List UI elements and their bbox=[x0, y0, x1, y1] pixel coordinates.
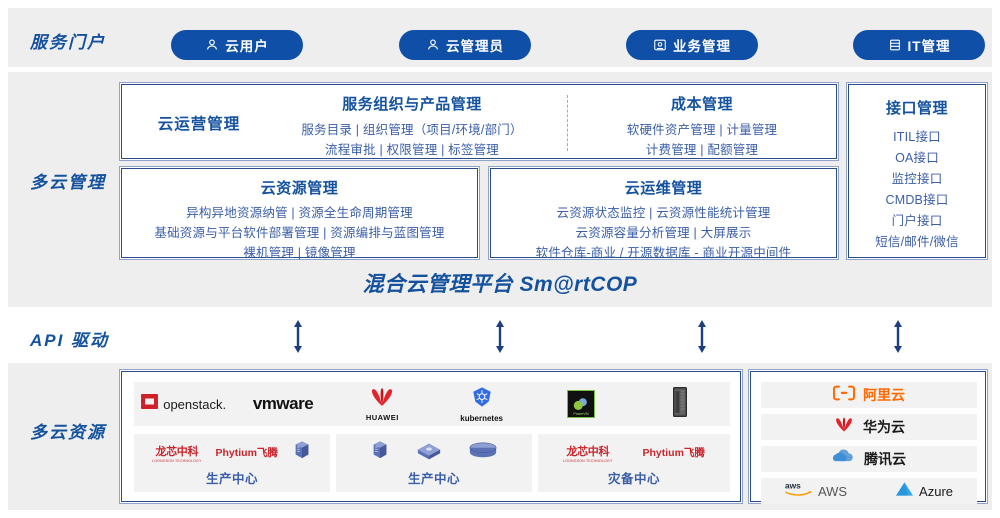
virtualization-vendor-strip: openstack. vmware bbox=[134, 382, 730, 426]
datacenter-name: 灾备中心 bbox=[608, 468, 660, 487]
datacenter-name: 生产中心 bbox=[408, 468, 460, 487]
bidirectional-arrow-icon bbox=[695, 318, 709, 360]
service-portal-band: 服务门户 云用户 云管理员 业务管理 IT管理 bbox=[8, 8, 992, 67]
vendor-powervm: PowerVM bbox=[531, 382, 630, 426]
public-cloud-label: AWS bbox=[818, 484, 847, 499]
detail-line: 软硬件资产管理 | 计量管理 bbox=[577, 120, 827, 140]
portal-pill-label: 云管理员 bbox=[446, 35, 504, 55]
bidirectional-arrow-icon bbox=[493, 318, 507, 360]
vendor-label: kubernetes bbox=[460, 414, 503, 423]
public-cloud-row-aws-azure: aws AWS Azure bbox=[761, 478, 977, 504]
user-icon bbox=[426, 38, 440, 52]
multi-cloud-resource-band: 多云资源 openstack. bbox=[8, 363, 992, 510]
vendor-label: HUAWEI bbox=[366, 413, 399, 422]
row-label-api-driven: API 驱动 bbox=[30, 326, 109, 351]
cloud-ops-management-lines: 云资源状态监控 | 云资源性能统计管理 云资源容量分析管理 | 大屏展示 软件仓… bbox=[491, 203, 836, 263]
public-cloud-row-huawei: 华为云 bbox=[761, 414, 977, 440]
portal-pill-label: IT管理 bbox=[908, 35, 951, 55]
cost-management-column: 成本管理 软硬件资产管理 | 计量管理 计费管理 | 配额管理 bbox=[577, 93, 827, 160]
vendor-kubernetes: kubernetes bbox=[432, 382, 531, 426]
service-org-product-lines: 服务目录 | 组织管理（项目/环境/部门） 流程审批 | 权限管理 | 标签管理 bbox=[262, 120, 562, 160]
column-divider bbox=[567, 95, 568, 151]
public-cloud-label: Azure bbox=[919, 484, 953, 499]
interface-management-box: 接口管理 ITIL接口 OA接口 监控接口 CMDB接口 门户接口 短信/邮件/… bbox=[848, 84, 986, 258]
cost-management-title: 成本管理 bbox=[577, 93, 827, 114]
portal-pill-cloud-user[interactable]: 云用户 bbox=[171, 30, 303, 60]
interface-management-lines: ITIL接口 OA接口 监控接口 CMDB接口 门户接口 短信/邮件/微信 bbox=[849, 127, 985, 253]
detail-line: 计费管理 | 配额管理 bbox=[577, 140, 827, 160]
user-icon bbox=[205, 38, 219, 52]
api-driven-band: API 驱动 bbox=[8, 312, 992, 360]
public-cloud-resources-box: 阿里云 华为云 腾 bbox=[750, 371, 986, 502]
cloud-operation-management-box: 云运营管理 服务组织与产品管理 服务目录 | 组织管理（项目/环境/部门） 流程… bbox=[121, 84, 837, 159]
detail-line: 异构异地资源纳管 | 资源全生命周期管理 bbox=[122, 203, 477, 223]
phytium-logo: Phytium飞腾 bbox=[216, 445, 278, 460]
row-label-multi-cloud-resource: 多云资源 bbox=[30, 418, 106, 443]
cost-management-lines: 软硬件资产管理 | 计量管理 计费管理 | 配额管理 bbox=[577, 120, 827, 160]
openstack-icon bbox=[141, 394, 158, 414]
portal-pill-cloud-admin[interactable]: 云管理员 bbox=[399, 30, 531, 60]
azure-logo: Azure bbox=[895, 481, 953, 502]
server-icon bbox=[292, 439, 312, 466]
vendor-label: 龙芯中科 bbox=[566, 443, 609, 459]
monitor-icon bbox=[653, 38, 667, 52]
vendor-server-rack bbox=[631, 382, 730, 426]
cloud-resource-management-box: 云资源管理 异构异地资源纳管 | 资源全生命周期管理 基础资源与平台软件部署管理… bbox=[121, 168, 478, 258]
vendor-sublabel: LOONGSON TECHNOLOGY bbox=[152, 459, 201, 463]
alibaba-cloud-icon bbox=[833, 385, 855, 406]
datacenter-cell: 龙芯中科 LOONGSON TECHNOLOGY Phytium飞腾 生产中心 bbox=[134, 434, 330, 492]
multi-cloud-management-band: 多云管理 云运营管理 服务组织与产品管理 服务目录 | 组织管理（项目/环境/部… bbox=[8, 72, 992, 307]
row-label-multi-cloud-management: 多云管理 bbox=[30, 168, 106, 193]
portal-pill-label: 云用户 bbox=[225, 35, 269, 55]
service-org-product-title: 服务组织与产品管理 bbox=[262, 93, 562, 114]
datacenter-cell: 龙芯中科 LOONGSON TECHNOLOGY Phytium飞腾 灾备中心 bbox=[538, 434, 730, 492]
huawei-flower-icon bbox=[368, 387, 396, 412]
detail-line: 监控接口 bbox=[849, 169, 985, 190]
portal-pill-label: 业务管理 bbox=[673, 35, 731, 55]
vendor-label: openstack. bbox=[163, 397, 226, 412]
detail-line: 软件仓库-商业 / 开源数据库 - 商业开源中间件 bbox=[491, 243, 836, 263]
storage-icon bbox=[468, 442, 498, 464]
azure-icon bbox=[895, 481, 914, 502]
public-cloud-label: 腾讯云 bbox=[864, 449, 906, 469]
tencent-cloud-icon bbox=[832, 449, 856, 470]
detail-line: 短信/邮件/微信 bbox=[849, 232, 985, 253]
public-cloud-label: 华为云 bbox=[863, 417, 905, 437]
detail-line: CMDB接口 bbox=[849, 190, 985, 211]
architecture-diagram: 服务门户 云用户 云管理员 业务管理 IT管理 多云 bbox=[0, 0, 1000, 518]
portal-pill-business-mgmt[interactable]: 业务管理 bbox=[626, 30, 758, 60]
bidirectional-arrow-icon bbox=[891, 318, 905, 360]
loongson-logo: 龙芯中科 LOONGSON TECHNOLOGY bbox=[563, 443, 612, 463]
portal-pill-it-mgmt[interactable]: IT管理 bbox=[853, 30, 985, 60]
detail-line: 裸机管理 | 镜像管理 bbox=[122, 243, 477, 263]
row-label-service-portal: 服务门户 bbox=[30, 28, 106, 53]
phytium-logo: Phytium飞腾 bbox=[643, 445, 705, 460]
bidirectional-arrow-icon bbox=[291, 318, 305, 360]
server-icon bbox=[888, 38, 902, 52]
svg-text:aws: aws bbox=[785, 481, 801, 491]
powervm-label: PowerVM bbox=[573, 412, 588, 416]
public-cloud-label: 阿里云 bbox=[863, 385, 905, 405]
server-rack-icon bbox=[673, 387, 687, 422]
server-icon bbox=[370, 439, 390, 466]
vendor-label: vmware bbox=[253, 394, 313, 414]
detail-line: 基础资源与平台软件部署管理 | 资源编排与蓝图管理 bbox=[122, 223, 477, 243]
public-cloud-row-tencent: 腾讯云 bbox=[761, 446, 977, 472]
vendor-label: 龙芯中科 bbox=[155, 443, 198, 459]
switch-icon bbox=[416, 441, 442, 465]
aws-logo: aws AWS bbox=[785, 480, 847, 502]
vendor-sublabel: LOONGSON TECHNOLOGY bbox=[563, 459, 612, 463]
cloud-operation-management-title: 云运营管理 bbox=[140, 112, 258, 134]
detail-line: 云资源状态监控 | 云资源性能统计管理 bbox=[491, 203, 836, 223]
vendor-vmware: vmware bbox=[233, 382, 332, 426]
detail-line: 云资源容量分析管理 | 大屏展示 bbox=[491, 223, 836, 243]
vendor-huawei: HUAWEI bbox=[333, 382, 432, 426]
cloud-resource-management-title: 云资源管理 bbox=[122, 177, 477, 198]
datacenter-cell: 生产中心 bbox=[336, 434, 532, 492]
loongson-logo: 龙芯中科 LOONGSON TECHNOLOGY bbox=[152, 443, 201, 463]
vendor-openstack: openstack. bbox=[134, 382, 233, 426]
datacenter-name: 生产中心 bbox=[206, 468, 258, 487]
aws-icon: aws bbox=[785, 480, 813, 502]
cloud-ops-management-title: 云运维管理 bbox=[491, 177, 836, 198]
kubernetes-icon bbox=[471, 386, 493, 413]
detail-line: 流程审批 | 权限管理 | 标签管理 bbox=[262, 140, 562, 160]
interface-management-title: 接口管理 bbox=[849, 97, 985, 118]
platform-title: 混合云管理平台 Sm@rtCOP bbox=[8, 268, 992, 298]
service-org-product-column: 服务组织与产品管理 服务目录 | 组织管理（项目/环境/部门） 流程审批 | 权… bbox=[262, 93, 562, 160]
detail-line: ITIL接口 bbox=[849, 127, 985, 148]
huawei-flower-icon bbox=[833, 416, 855, 438]
public-cloud-row-alibaba: 阿里云 bbox=[761, 382, 977, 408]
cloud-resource-management-lines: 异构异地资源纳管 | 资源全生命周期管理 基础资源与平台软件部署管理 | 资源编… bbox=[122, 203, 477, 263]
detail-line: OA接口 bbox=[849, 148, 985, 169]
private-cloud-resources-box: openstack. vmware bbox=[121, 371, 741, 502]
powervm-icon: PowerVM bbox=[567, 390, 595, 418]
detail-line: 服务目录 | 组织管理（项目/环境/部门） bbox=[262, 120, 562, 140]
cloud-ops-management-box: 云运维管理 云资源状态监控 | 云资源性能统计管理 云资源容量分析管理 | 大屏… bbox=[490, 168, 837, 258]
detail-line: 门户接口 bbox=[849, 211, 985, 232]
